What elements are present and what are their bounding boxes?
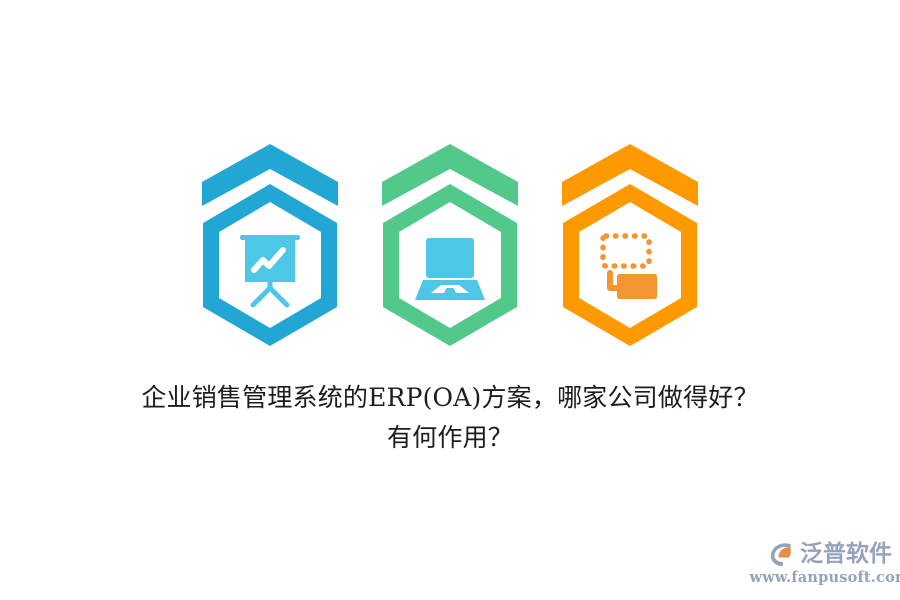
- selection-move-icon: [603, 236, 657, 299]
- page-title: 企业销售管理系统的ERP(OA)方案，哪家公司做得好？ 有何作用？: [0, 378, 900, 458]
- badge-selection[interactable]: [559, 140, 701, 352]
- watermark-url: www.fanpusoft.com: [750, 569, 900, 587]
- presentation-chart-icon: [240, 235, 300, 305]
- laptop-icon: [415, 238, 485, 300]
- badge-analytics[interactable]: [199, 140, 341, 352]
- watermark-brand-name: 泛普软件: [800, 540, 892, 568]
- fanpu-logo-icon: [768, 540, 796, 568]
- badge-laptop[interactable]: [379, 140, 521, 352]
- watermark-logo: 泛普软件 www.fanpusoft.com: [766, 534, 894, 590]
- page-canvas: 企业销售管理系统的ERP(OA)方案，哪家公司做得好？ 有何作用？ 泛普软件 w…: [0, 0, 900, 600]
- badge-row: [0, 140, 900, 355]
- hexagon-frame: [563, 184, 697, 346]
- page-title-line-1: 企业销售管理系统的ERP(OA)方案，哪家公司做得好？: [0, 378, 900, 418]
- watermark-brand-row: 泛普软件: [768, 538, 892, 570]
- page-title-line-2: 有何作用？: [0, 418, 900, 458]
